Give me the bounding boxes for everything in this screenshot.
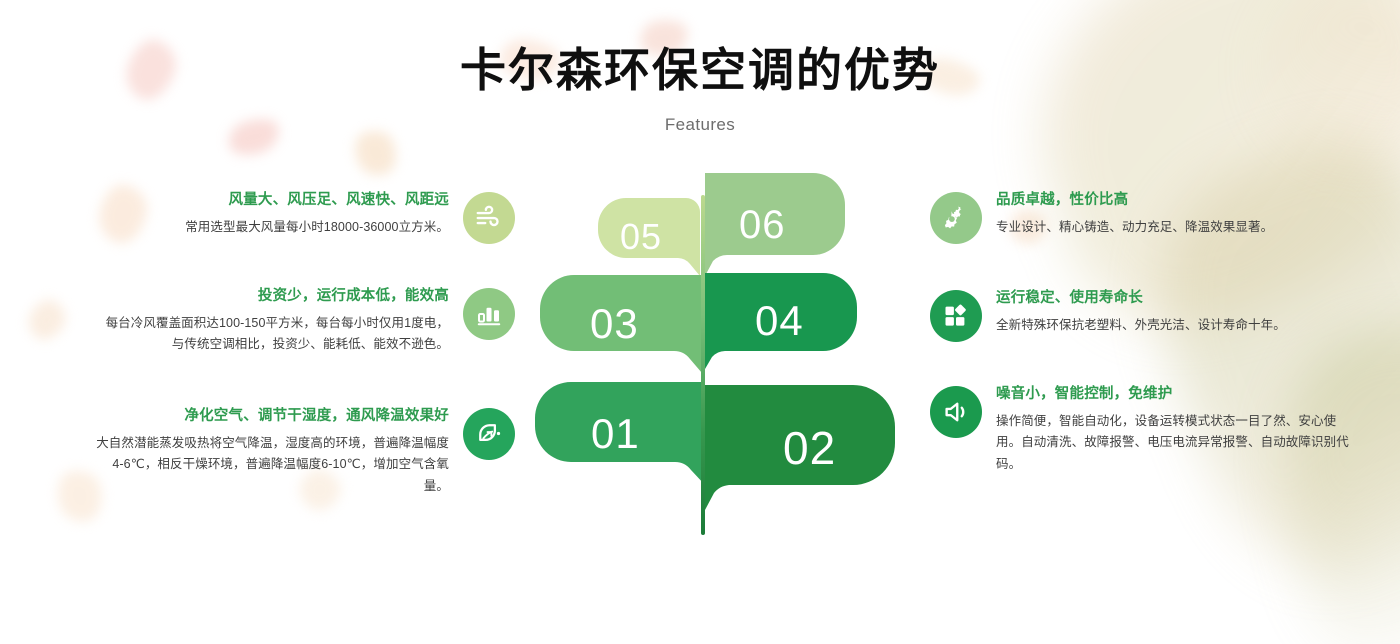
feature-text: 净化空气、调节干湿度，通风降温效果好 大自然潜能蒸发吸热将空气降温，湿度高的环境… bbox=[95, 406, 463, 497]
feature-body: 全新特殊环保抗老塑料、外壳光洁、设计寿命十年。 bbox=[996, 310, 1350, 337]
features-column-right: 品质卓越，性价比高 专业设计、精心铸造、动力充足、降温效果显著。 运行稳定、使用… bbox=[930, 176, 1350, 487]
feature-body: 操作简便，智能自动化，设备运转模式状态一目了然、安心使用。自动清洗、故障报警、电… bbox=[996, 406, 1350, 476]
gears-icon[interactable] bbox=[930, 192, 982, 244]
petal-shape bbox=[22, 294, 71, 346]
eco-leaf-icon[interactable] bbox=[463, 408, 515, 460]
feature-text: 风量大、风压足、风速快、风距远 常用选型最大风量每小时18000-36000立方… bbox=[95, 190, 463, 238]
feature-body: 大自然潜能蒸发吸热将空气降温，湿度高的环境，普遍降温幅度4-6℃，相反干燥环境，… bbox=[95, 428, 449, 498]
page-header: 卡尔森环保空调的优势 Features bbox=[0, 0, 1400, 135]
feature-body: 常用选型最大风量每小时18000-36000立方米。 bbox=[95, 212, 449, 239]
speaker-icon[interactable] bbox=[930, 386, 982, 438]
feature-item-cost[interactable]: 投资少，运行成本低，能效高 每台冷风覆盖面积达100-150平方米，每台每小时仅… bbox=[95, 286, 515, 356]
stem bbox=[701, 195, 705, 535]
feature-item-quality[interactable]: 品质卓越，性价比高 专业设计、精心铸造、动力充足、降温效果显著。 bbox=[930, 190, 1350, 244]
leaf-number: 04 bbox=[755, 300, 804, 342]
page-title: 卡尔森环保空调的优势 bbox=[0, 0, 1400, 97]
feature-item-stability[interactable]: 运行稳定、使用寿命长 全新特殊环保抗老塑料、外壳光洁、设计寿命十年。 bbox=[930, 288, 1350, 342]
page-subtitle: Features bbox=[0, 97, 1400, 135]
features-column-left: 风量大、风压足、风速快、风距远 常用选型最大风量每小时18000-36000立方… bbox=[95, 176, 515, 509]
leaf-number: 05 bbox=[620, 219, 662, 255]
bar-chart-icon[interactable] bbox=[463, 288, 515, 340]
feature-body: 专业设计、精心铸造、动力充足、降温效果显著。 bbox=[996, 212, 1350, 239]
leaf-05[interactable]: 05 bbox=[598, 198, 700, 276]
feature-text: 品质卓越，性价比高 专业设计、精心铸造、动力充足、降温效果显著。 bbox=[982, 190, 1350, 238]
feature-item-noise[interactable]: 噪音小，智能控制，免维护 操作简便，智能自动化，设备运转模式状态一目了然、安心使… bbox=[930, 384, 1350, 475]
leaf-cluster-diagram: 05 06 03 04 01 02 bbox=[520, 170, 920, 550]
leaf-02[interactable]: 02 bbox=[705, 385, 895, 510]
leaf-04[interactable]: 04 bbox=[705, 273, 857, 369]
feature-text: 运行稳定、使用寿命长 全新特殊环保抗老塑料、外壳光洁、设计寿命十年。 bbox=[982, 288, 1350, 336]
feature-heading: 品质卓越，性价比高 bbox=[996, 190, 1350, 212]
feature-heading: 运行稳定、使用寿命长 bbox=[996, 288, 1350, 310]
leaf-number: 01 bbox=[591, 413, 640, 455]
leaf-03[interactable]: 03 bbox=[540, 275, 702, 373]
feature-heading: 风量大、风压足、风速快、风距远 bbox=[95, 190, 449, 212]
leaf-01[interactable]: 01 bbox=[535, 382, 705, 485]
feature-text: 投资少，运行成本低，能效高 每台冷风覆盖面积达100-150平方米，每台每小时仅… bbox=[95, 286, 463, 356]
leaf-number: 02 bbox=[783, 425, 836, 471]
wind-icon[interactable] bbox=[463, 192, 515, 244]
feature-heading: 噪音小，智能控制，免维护 bbox=[996, 384, 1350, 406]
feature-text: 噪音小，智能控制，免维护 操作简便，智能自动化，设备运转模式状态一目了然、安心使… bbox=[982, 384, 1350, 475]
blocks-grid-icon[interactable] bbox=[930, 290, 982, 342]
leaf-number: 03 bbox=[590, 303, 639, 345]
feature-body: 每台冷风覆盖面积达100-150平方米，每台每小时仅用1度电，与传统空调相比，投… bbox=[95, 308, 449, 356]
feature-item-wind[interactable]: 风量大、风压足、风速快、风距远 常用选型最大风量每小时18000-36000立方… bbox=[95, 190, 515, 244]
feature-item-air-purify[interactable]: 净化空气、调节干湿度，通风降温效果好 大自然潜能蒸发吸热将空气降温，湿度高的环境… bbox=[95, 406, 515, 497]
feature-heading: 投资少，运行成本低，能效高 bbox=[95, 286, 449, 308]
leaf-06[interactable]: 06 bbox=[705, 173, 845, 276]
feature-heading: 净化空气、调节干湿度，通风降温效果好 bbox=[95, 406, 449, 428]
leaf-number: 06 bbox=[739, 205, 786, 245]
